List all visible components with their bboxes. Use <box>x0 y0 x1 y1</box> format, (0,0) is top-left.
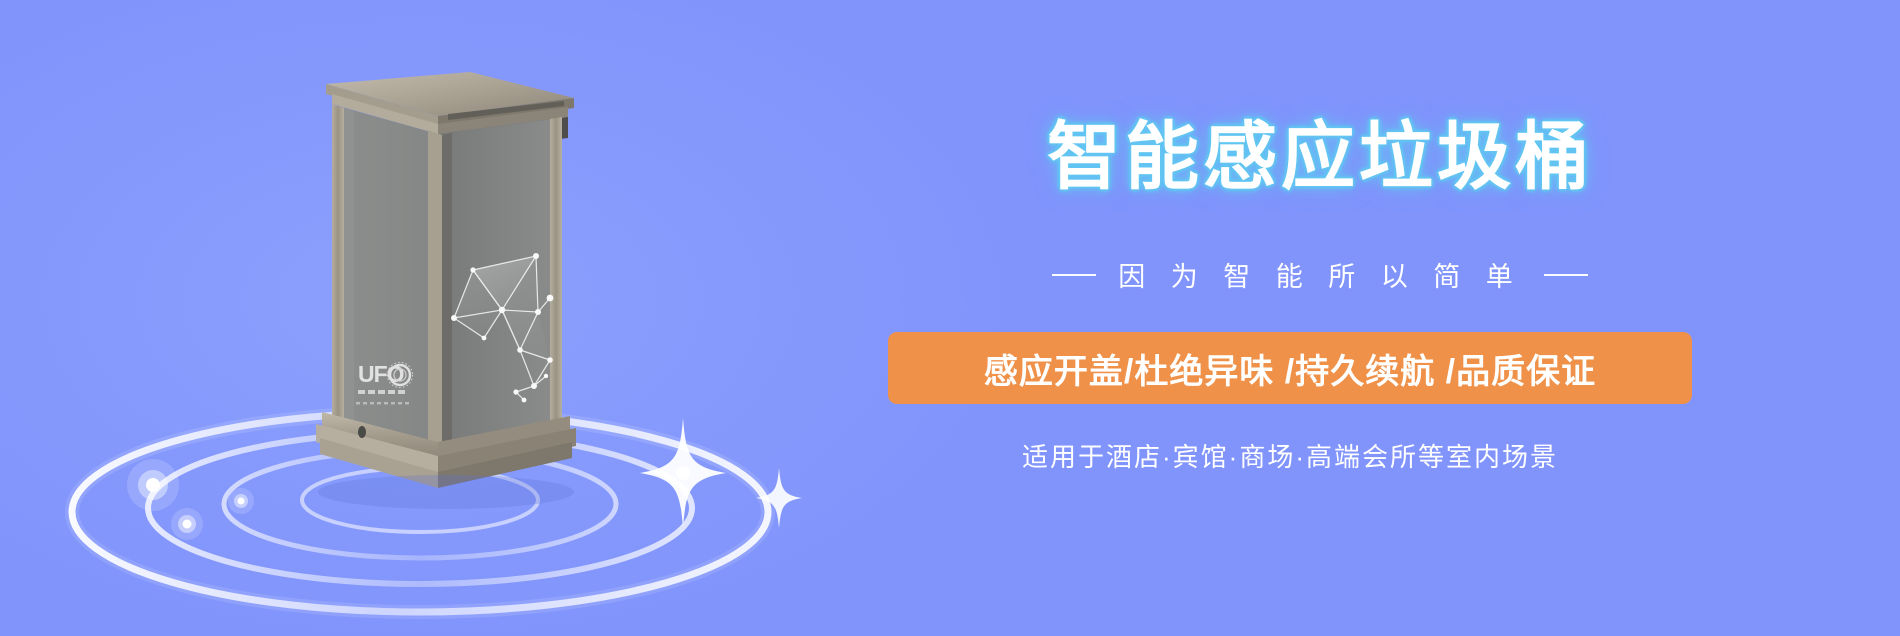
promo-banner: UFO <box>0 0 1900 636</box>
copy-block: 智能感应垃圾桶 因 为 智 能 所 以 简 单 感应开盖/杜绝异味 /持久续航 … <box>880 0 1900 636</box>
rule-right-icon <box>1544 274 1588 276</box>
subtitle-row: 因 为 智 能 所 以 简 单 <box>880 255 1760 294</box>
feature-badge-text: 感应开盖/杜绝异味 /持久续航 /品质保证 <box>984 344 1596 393</box>
trash-bin-illustration: UFO <box>288 60 608 510</box>
product-scene: UFO <box>0 0 880 636</box>
page-title: 智能感应垃圾桶 <box>880 120 1760 194</box>
subtitle: 因 为 智 能 所 以 简 单 <box>1118 255 1522 294</box>
feature-badge: 感应开盖/杜绝异味 /持久续航 /品质保证 <box>888 332 1692 404</box>
usage-scenarios-text: 适用于酒店·宾馆·商场·高端会所等室内场景 <box>880 437 1700 474</box>
rule-left-icon <box>1052 274 1096 276</box>
